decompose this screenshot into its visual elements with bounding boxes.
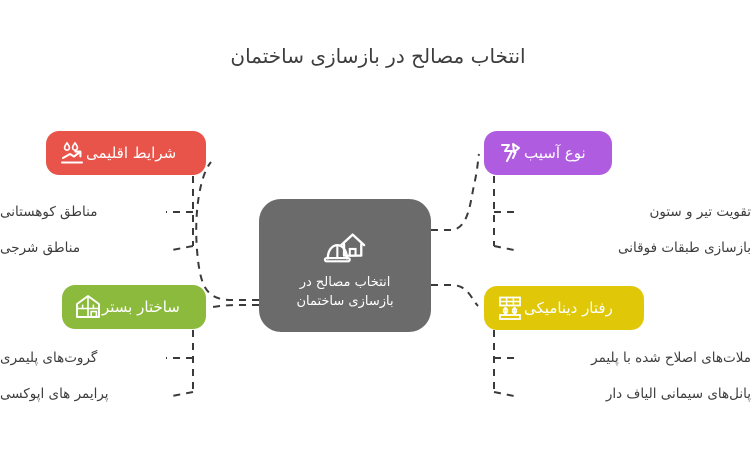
connector-center-climate	[196, 162, 259, 300]
crack-damage-icon	[496, 139, 524, 167]
branch-dynamic-behavior-label: رفتار دینامیکی	[524, 299, 613, 317]
connector-center-bed	[210, 305, 259, 307]
branch-climate-label: شرایط اقلیمی	[86, 144, 176, 162]
building-structure-icon	[74, 293, 102, 321]
connector-bed-child-2	[172, 392, 193, 396]
mindmap-canvas: انتخاب مصالح در بازسازی ساختمان انتخاب م…	[0, 0, 756, 456]
connector-center-dynamic	[431, 285, 478, 306]
branch-damage-type-child-1: تقویت تیر و ستون	[505, 204, 751, 220]
branch-damage-type[interactable]: نوع آسیب	[484, 131, 612, 175]
center-node[interactable]: انتخاب مصالح در بازسازی ساختمان	[259, 199, 431, 332]
branch-damage-type-child-2: بازسازی طبقات فوقانی	[505, 240, 751, 256]
branch-bed-structure-child-1: گروت‌های پلیمری	[0, 350, 160, 366]
branch-bed-structure-label: ساختار بستر	[102, 298, 180, 316]
branch-dynamic-behavior-child-1: ملات‌های اصلاح شده با پلیمر	[505, 350, 751, 366]
connector-center-damage	[431, 154, 479, 230]
connector-climate-child-2	[172, 246, 193, 250]
branch-dynamic-behavior[interactable]: رفتار دینامیکی	[484, 286, 644, 330]
page-title: انتخاب مصالح در بازسازی ساختمان	[0, 44, 756, 68]
humidity-temperature-icon	[58, 139, 86, 167]
branch-bed-structure[interactable]: ساختار بستر	[62, 285, 206, 329]
seismic-vibration-icon	[496, 294, 524, 322]
branch-climate-child-1: مناطق کوهستانی	[0, 204, 160, 220]
branch-damage-type-label: نوع آسیب	[524, 144, 586, 162]
branch-bed-structure-child-2: پرایمر های اپوکسی	[0, 386, 160, 402]
branch-dynamic-behavior-child-2: پانل‌های سیمانی الیاف دار	[505, 386, 751, 402]
center-node-label: انتخاب مصالح در بازسازی ساختمان	[296, 274, 393, 312]
branch-climate-child-2: مناطق شرجی	[0, 240, 160, 256]
house-hardhat-icon	[322, 226, 368, 270]
branch-climate[interactable]: شرایط اقلیمی	[46, 131, 206, 175]
